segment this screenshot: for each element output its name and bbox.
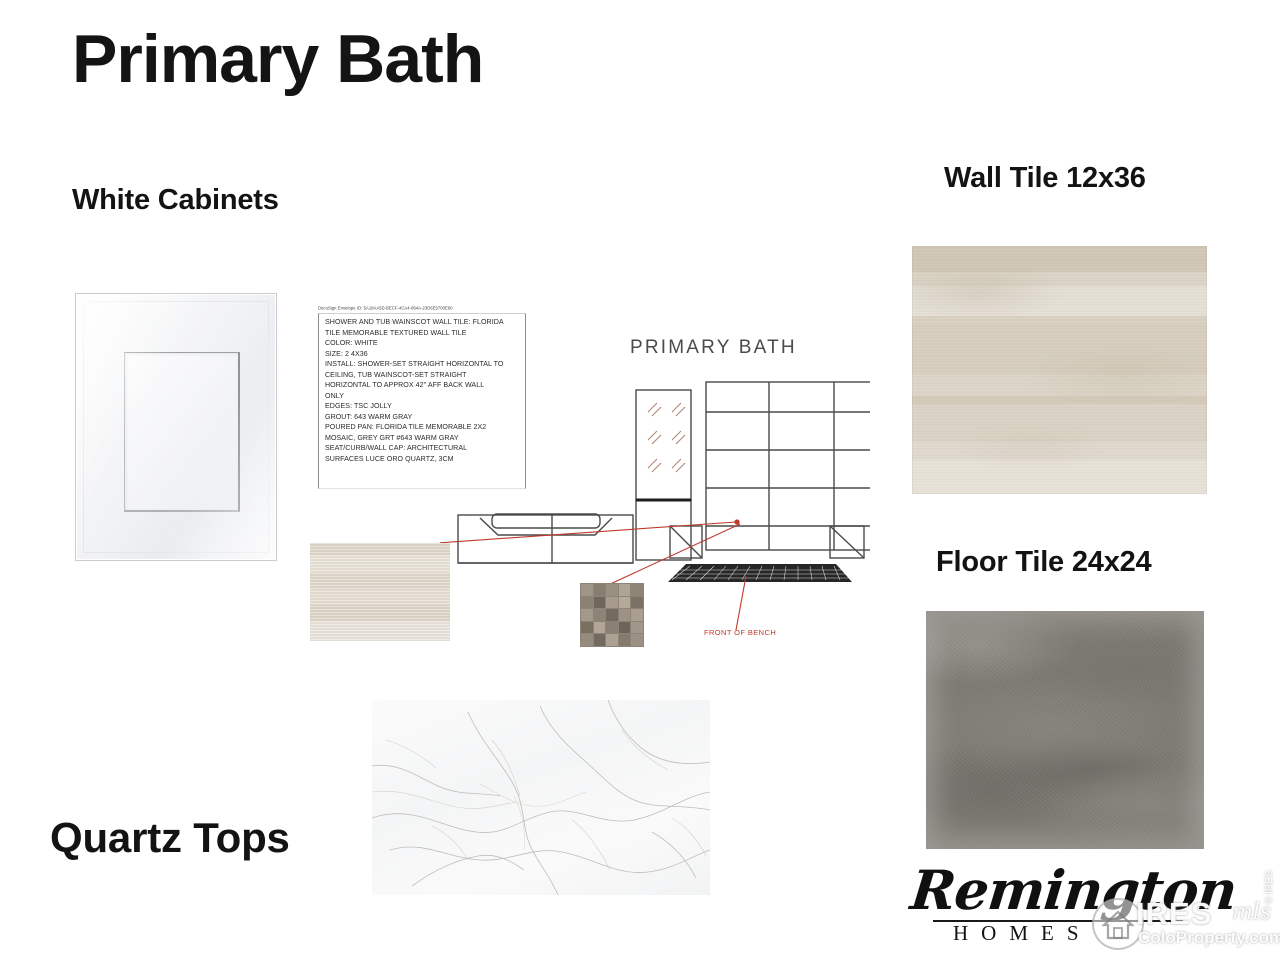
watermark-copyright-text: © IRES: [1264, 871, 1275, 905]
page-title: Primary Bath: [72, 24, 483, 95]
heading-floor-tile: Floor Tile 24x24: [936, 546, 1151, 579]
wall-tile-grain: [912, 246, 1207, 494]
shower-elevation-drawing: [440, 330, 870, 640]
mosaic-tile-swatch: [580, 583, 644, 647]
watermark-site-text: ColoProperty.com: [1138, 928, 1280, 948]
heading-wall-tile: Wall Tile 12x36: [944, 162, 1146, 195]
heading-quartz-tops: Quartz Tops: [50, 814, 290, 862]
floor-tile-edge: [926, 611, 1204, 849]
docusign-envelope-id: DocuSign Envelope ID: 5A18AA5D-BECF-4CA4…: [318, 305, 533, 311]
wall-tile-small-swatch: [310, 543, 450, 641]
watermark-ires-text: IRES: [1136, 896, 1212, 932]
quartz-veining: [372, 700, 710, 895]
cabinet-door-sample: [75, 293, 277, 561]
cabinet-door-panel: [124, 352, 240, 512]
spec-line: SHOWER AND TUB WAINSCOT WALL TILE: FLORI…: [325, 317, 520, 328]
heading-white-cabinets: White Cabinets: [72, 184, 279, 217]
quartz-slab-swatch: [372, 700, 710, 895]
wall-tile-small-grain: [310, 543, 450, 641]
front-of-bench-label: FRONT OF BENCH: [704, 628, 776, 637]
ires-watermark: IRES mls ColoProperty.com © IRES: [1092, 892, 1280, 960]
leader-dot: [734, 519, 739, 524]
tile-hatch: [648, 403, 685, 472]
wall-tile-swatch: [912, 246, 1207, 494]
floor-tile-swatch: [926, 611, 1204, 849]
mosaic-pan: [668, 564, 852, 582]
logo-subtitle: HOMES: [953, 921, 1092, 946]
house-glyph: [1094, 900, 1142, 948]
elevation-svg: [440, 330, 870, 640]
